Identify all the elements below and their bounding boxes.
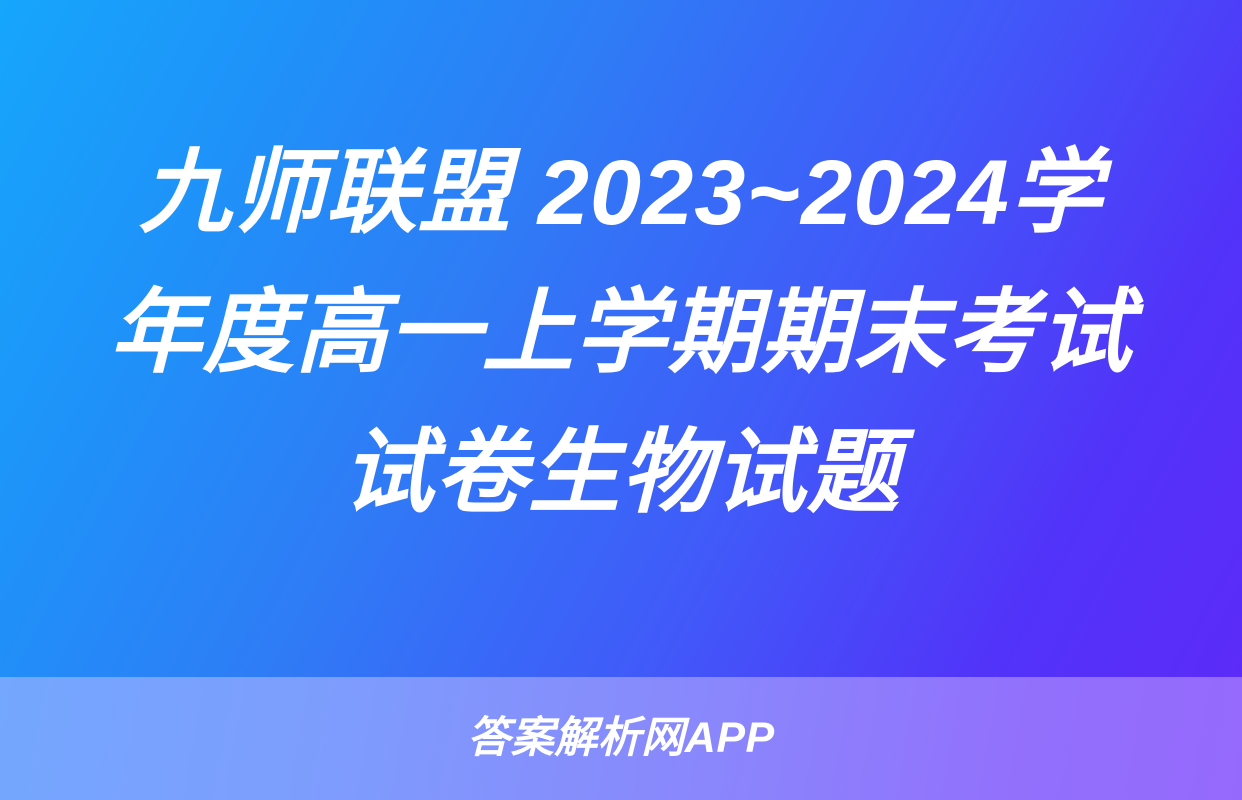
hero-gradient-panel: 九师联盟 2023~2024学年度高一上学期期末考试试卷生物试题 (0, 0, 1242, 677)
title-line-3: 试卷生物试题 (90, 403, 1152, 543)
page-title: 九师联盟 2023~2024学年度高一上学期期末考试试卷生物试题 (90, 123, 1152, 543)
title-line-1: 九师联盟 2023~2024学 (90, 123, 1152, 263)
share-card: 九师联盟 2023~2024学年度高一上学期期末考试试卷生物试题 答案解析网AP… (0, 0, 1242, 800)
footer-brand-band: 答案解析网APP (0, 677, 1242, 800)
app-brand-wordmark: 答案解析网APP (467, 717, 774, 760)
title-line-2: 年度高一上学期期末考试 (90, 263, 1152, 403)
